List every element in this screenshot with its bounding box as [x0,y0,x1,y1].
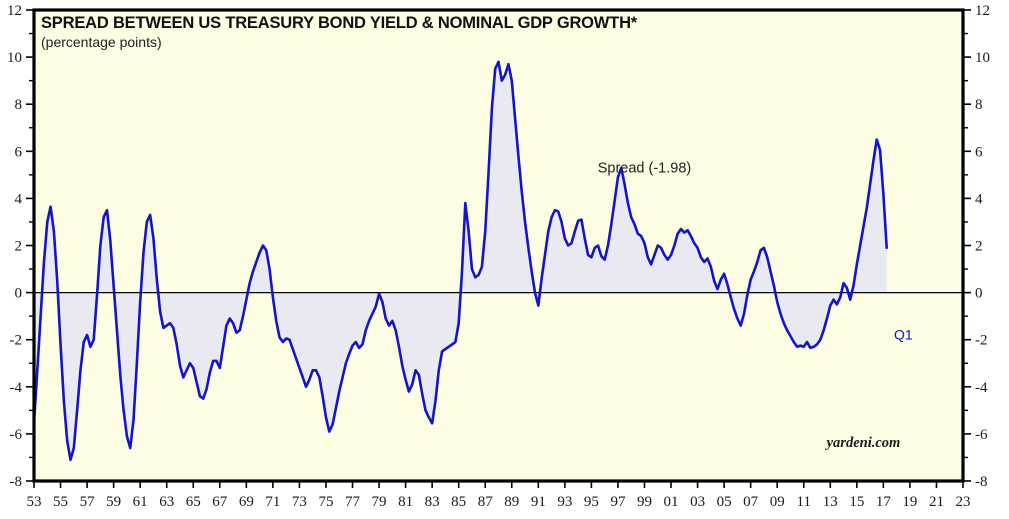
x-axis-tick-label: 01 [664,494,679,510]
x-axis-tick-label: 21 [929,494,944,510]
y-axis-tick-label: -8 [10,474,23,490]
x-axis-tick-label: 53 [27,494,42,510]
x-axis-tick-label: 87 [478,494,494,510]
y-axis-tick-label: 6 [15,144,23,160]
y-axis-tick-label: 4 [975,191,983,207]
x-axis-tick-label: 19 [902,494,917,510]
x-axis-tick-label: 03 [690,494,705,510]
x-axis-tick-label: 61 [133,494,148,510]
spread-chart: -8-8-6-6-4-4-2-2002244668810101212 53555… [0,0,1009,519]
x-axis-tick-label: 59 [106,494,121,510]
x-axis-tick-label: 77 [345,494,361,510]
y-axis-tick-label: 8 [975,97,983,113]
last-point-label: Q1 [894,327,913,343]
page-title: SPREAD BETWEEN US TREASURY BOND YIELD & … [41,14,638,32]
x-axis-tick-label: 75 [318,494,333,510]
x-axis-tick-label: 05 [717,494,732,510]
chart-subtitle: (percentage points) [41,34,162,50]
x-axis-tick-label: 69 [239,494,254,510]
x-axis-tick-label: 67 [212,494,228,510]
y-axis-tick-label: -6 [975,427,988,443]
x-axis-tick-label: 91 [531,494,546,510]
x-axis-tick-label: 71 [265,494,280,510]
x-axis-tick-label: 15 [849,494,864,510]
y-axis-tick-label: 8 [15,97,23,113]
y-axis-tick-label: -2 [975,333,988,349]
y-axis-tick-label: -4 [10,380,23,396]
y-axis-tick-label: -4 [975,380,988,396]
x-axis-tick-label: 13 [823,494,838,510]
y-axis-tick-label: 10 [7,50,22,66]
y-axis-tick-label: 12 [975,3,990,19]
x-axis-tick-label: 65 [186,494,201,510]
watermark: yardeni.com [825,435,901,451]
x-axis-tick-label: 79 [372,494,387,510]
x-axis-tick-label: 89 [504,494,519,510]
x-axis-tick-label: 63 [159,494,174,510]
y-axis-tick-label: 12 [7,3,22,19]
x-axis-tick-label: 83 [425,494,440,510]
y-axis-tick-label: 0 [975,286,983,302]
x-axis-tick-label: 99 [637,494,652,510]
x-axis-tick-label: 23 [956,494,971,510]
x-axis-tick-label: 57 [80,494,96,510]
y-axis-tick-label: 2 [15,239,23,255]
y-axis-tick-label: 4 [15,191,23,207]
chart-container: -8-8-6-6-4-4-2-2002244668810101212 53555… [0,0,1009,519]
x-axis-tick-label: 73 [292,494,307,510]
x-axis-tick-label: 95 [584,494,599,510]
spread-annotation: Spread (-1.98) [598,160,692,176]
x-axis-tick-label: 11 [797,494,811,510]
x-axis-tick-label: 81 [398,494,413,510]
y-axis-tick-label: 2 [975,239,983,255]
y-axis-tick-label: -8 [975,474,988,490]
y-axis-tick-label: 0 [15,286,23,302]
y-axis-tick-label: -2 [10,333,23,349]
x-axis-tick-label: 17 [876,494,892,510]
x-axis-tick-label: 85 [451,494,466,510]
x-axis-tick-label: 09 [770,494,785,510]
y-axis-tick-label: 6 [975,144,983,160]
x-axis-tick-label: 93 [557,494,572,510]
x-axis-tick-label: 55 [53,494,68,510]
y-axis-tick-label: 10 [975,50,990,66]
x-axis-tick-label: 07 [743,494,759,510]
x-axis-tick-label: 97 [610,494,626,510]
y-axis-tick-label: -6 [10,427,23,443]
